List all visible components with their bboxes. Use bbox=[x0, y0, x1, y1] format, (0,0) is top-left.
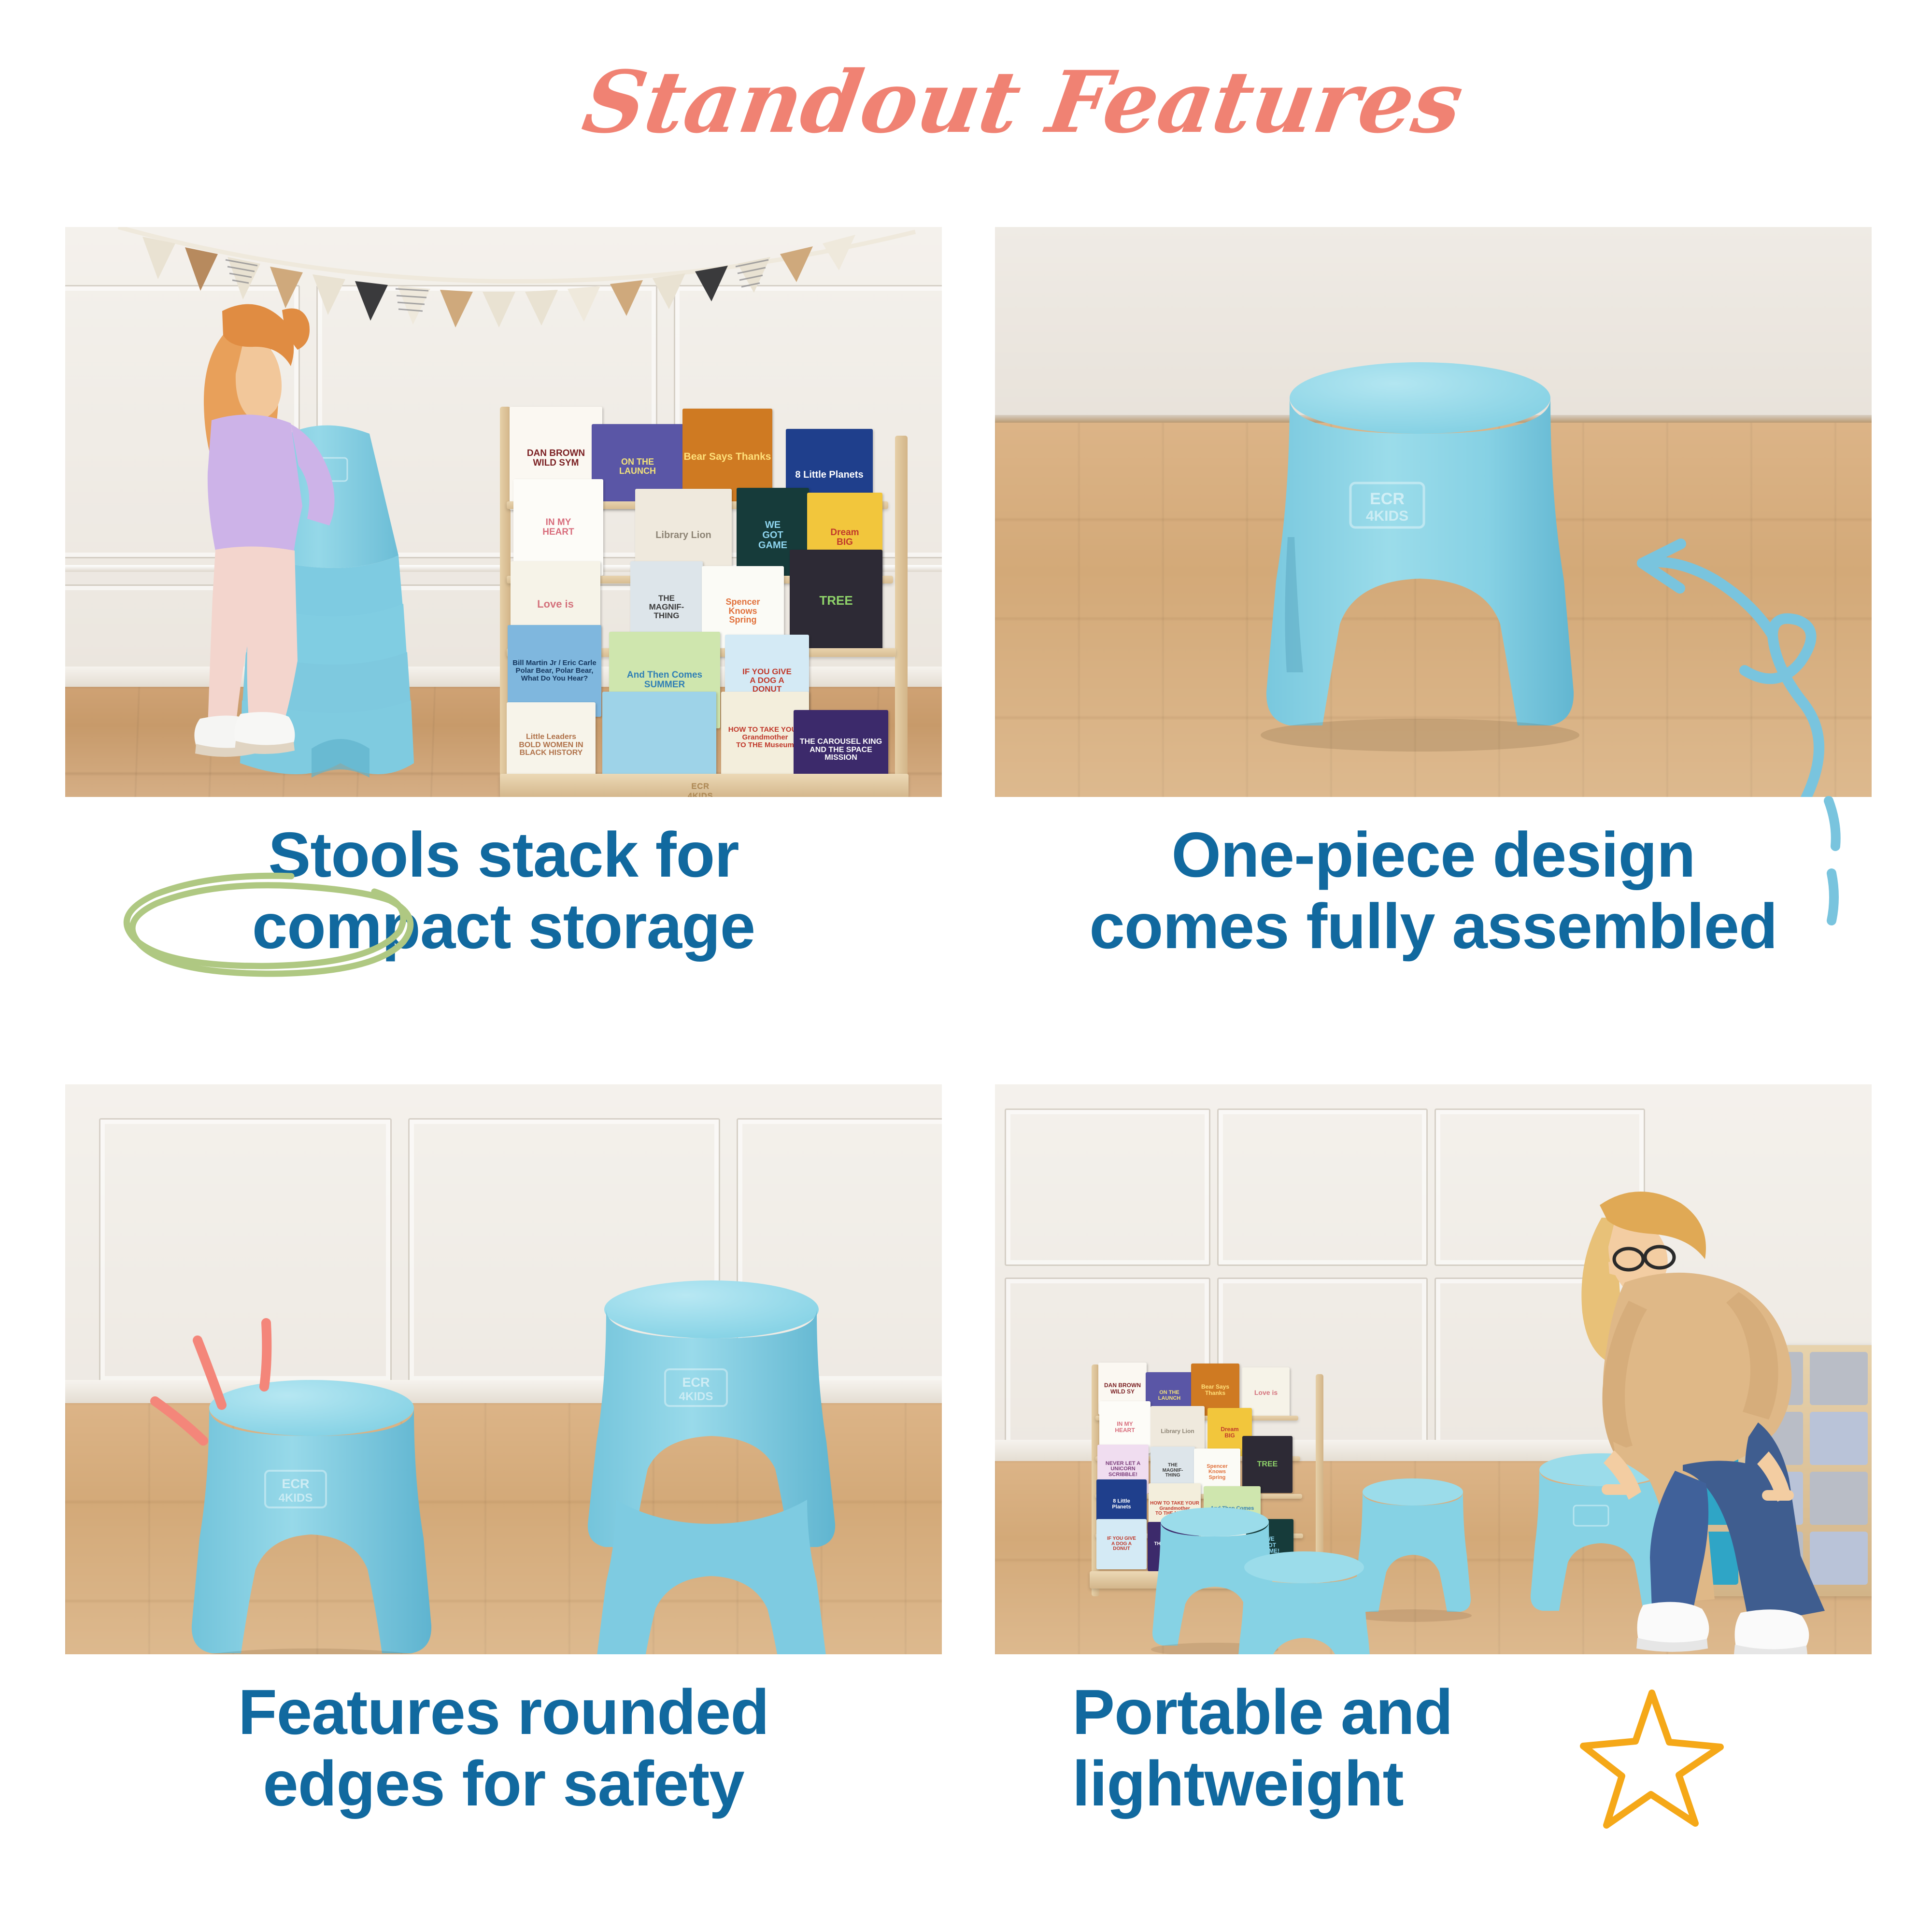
caption-line-2: comes fully assembled bbox=[995, 891, 1872, 962]
caption-line-2: compact storage bbox=[65, 891, 942, 962]
caption-line-2: edges for safety bbox=[65, 1748, 942, 1819]
caption-rounded-edges: Features rounded edges for safety bbox=[65, 1676, 942, 1819]
stool-brand-bottom: 4KIDS bbox=[1366, 508, 1408, 524]
page-title: Standout Features bbox=[0, 46, 1932, 167]
caption-stools-stack: Stools stack for compact storage bbox=[65, 819, 942, 962]
stool-brand-bottom: 4KIDS bbox=[279, 1492, 313, 1505]
feature-grid: DAN BROWNWILD SYM ON THELAUNCH Bear Says… bbox=[65, 227, 1867, 1898]
stool-stacked-pair: ECR 4KIDS bbox=[558, 1273, 867, 1654]
caption-line-2: lightweight bbox=[1072, 1748, 1872, 1819]
title-script-text: Standout Features bbox=[531, 51, 1401, 162]
stool-floor-front bbox=[1227, 1548, 1381, 1654]
feature-cell-rounded-edges: ECR 4KIDS bbox=[65, 1084, 942, 1819]
caption-portable: Portable and lightweight bbox=[995, 1676, 1872, 1819]
child-figure bbox=[150, 279, 353, 772]
caption-line-1: Stools stack for bbox=[65, 819, 942, 891]
shelf-brand-logo: ECR4KIDS bbox=[659, 781, 741, 797]
stool-one-piece: ECR 4KIDS bbox=[1236, 354, 1604, 797]
adult-figure bbox=[1488, 1133, 1855, 1654]
photo-single-stool: ECR 4KIDS bbox=[995, 227, 1872, 797]
feature-cell-one-piece: ECR 4KIDS One-piece design bbox=[995, 227, 1872, 962]
infographic-page: Standout Features bbox=[0, 0, 1932, 1932]
book-display-shelf: DAN BROWNWILD SYM ON THELAUNCH Bear Says… bbox=[500, 407, 910, 797]
photo-rounded-edges: ECR 4KIDS bbox=[65, 1084, 942, 1654]
svg-text:ECR: ECR bbox=[682, 1375, 710, 1390]
photo-stools-stack: DAN BROWNWILD SYM ON THELAUNCH Bear Says… bbox=[65, 227, 942, 797]
title-text: Standout Features bbox=[577, 52, 1469, 152]
svg-text:4KIDS: 4KIDS bbox=[679, 1390, 713, 1403]
caption-line-1: Features rounded bbox=[65, 1676, 942, 1748]
stool-single-front: ECR 4KIDS bbox=[176, 1374, 447, 1654]
stool-brand-top: ECR bbox=[1370, 490, 1405, 508]
stool-brand-top: ECR bbox=[282, 1477, 309, 1491]
photo-portable-lightweight: DAN BROWNWILD SY ON THELAUNCH Bear SaysT… bbox=[995, 1084, 1872, 1654]
caption-line-1: Portable and bbox=[1072, 1676, 1872, 1748]
caption-one-piece: One-piece design comes fully assembled bbox=[995, 819, 1872, 962]
feature-cell-stack: DAN BROWNWILD SYM ON THELAUNCH Bear Says… bbox=[65, 227, 942, 962]
feature-cell-portable: DAN BROWNWILD SY ON THELAUNCH Bear SaysT… bbox=[995, 1084, 1872, 1819]
caption-line-1: One-piece design bbox=[995, 819, 1872, 891]
